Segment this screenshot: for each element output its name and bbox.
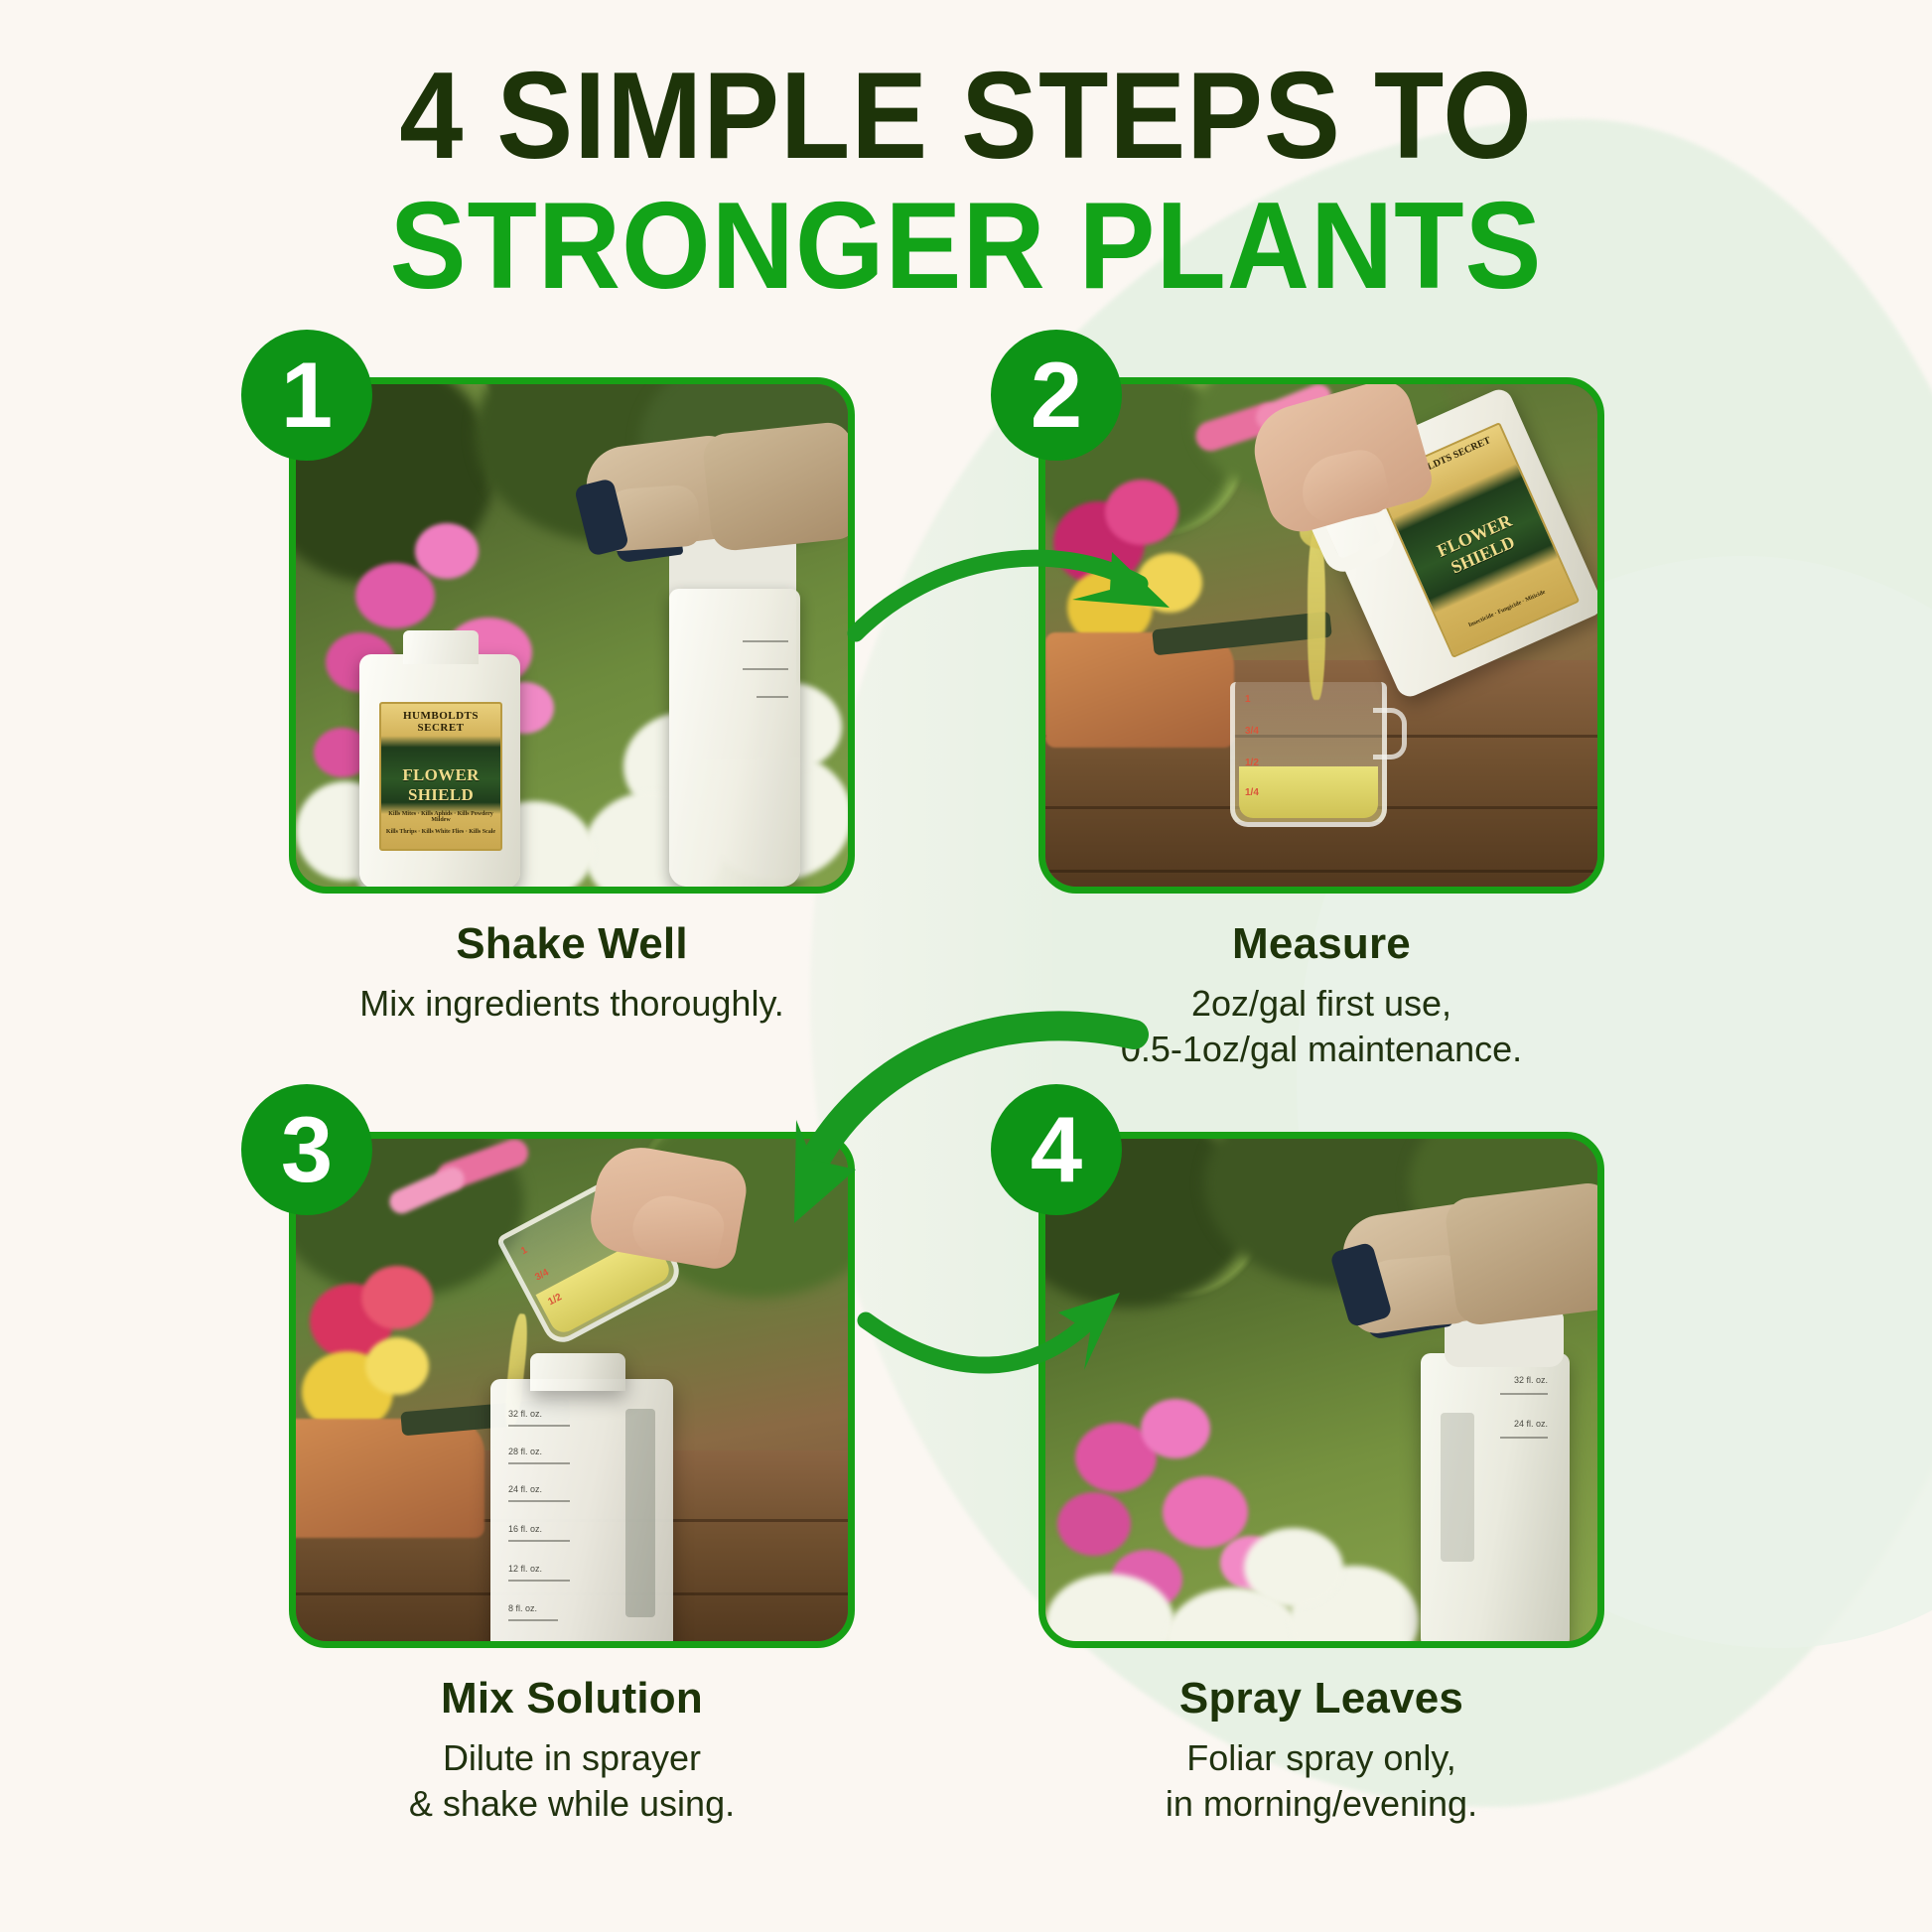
infographic-canvas: 4 SIMPLE STEPS TO STRONGER PLANTS 1 (0, 0, 1932, 1932)
step-card-2: 2 (993, 377, 1688, 1072)
sprayer-bottle-3: 32 fl. oz. 28 fl. oz. 24 fl. oz. 16 fl. … (490, 1379, 673, 1648)
scene-mix-solution: 1 3/4 1/2 32 fl. oz. (296, 1139, 848, 1641)
jug-brand-text-1: HUMBOLDTS SECRET (381, 710, 500, 734)
step-caption-2: Measure 2oz/gal first use, 0.5-1oz/gal m… (1038, 894, 1604, 1072)
step-photo-2: 1 3/4 1/2 1/4 HUMBOLDTS SECRET (1038, 377, 1604, 894)
step-caption-4: Spray Leaves Foliar spray only, in morni… (1038, 1648, 1604, 1827)
page-title: 4 SIMPLE STEPS TO STRONGER PLANTS (0, 52, 1932, 313)
step-body-2-line-1: 2oz/gal first use, (1038, 981, 1604, 1027)
step-badge-4: 4 (991, 1084, 1122, 1215)
title-line-2: STRONGER PLANTS (68, 182, 1864, 312)
step-caption-3: Mix Solution Dilute in sprayer & shake w… (289, 1648, 855, 1827)
step-title-4: Spray Leaves (1038, 1674, 1604, 1724)
measuring-cup: 1 3/4 1/2 1/4 (1230, 682, 1387, 827)
sprayer-bottle-4: 32 fl. oz. 24 fl. oz. (1421, 1353, 1570, 1648)
scene-measure: 1 3/4 1/2 1/4 HUMBOLDTS SECRET (1045, 384, 1597, 887)
step-body-1-line-1: Mix ingredients thoroughly. (289, 981, 855, 1027)
step-title-1: Shake Well (289, 919, 855, 969)
jug-product-text-1: FLOWER SHIELD (381, 765, 500, 805)
jug-product-text-2: FLOWER SHIELD (1409, 499, 1549, 593)
scene-shake-well: HUMBOLDTS SECRET FLOWER SHIELD Kills Mit… (296, 384, 848, 887)
scene-spray-leaves: 32 fl. oz. 24 fl. oz. (1045, 1139, 1597, 1641)
steps-grid: 1 (0, 377, 1932, 1926)
step-photo-4: 32 fl. oz. 24 fl. oz. (1038, 1132, 1604, 1648)
title-line-1: 4 SIMPLE STEPS TO (68, 52, 1864, 182)
step-photo-1: HUMBOLDTS SECRET FLOWER SHIELD Kills Mit… (289, 377, 855, 894)
step-body-3-line-2: & shake while using. (289, 1781, 855, 1827)
step-card-1: 1 (243, 377, 938, 1027)
step-photo-3: 1 3/4 1/2 32 fl. oz. (289, 1132, 855, 1648)
step-badge-1: 1 (241, 330, 372, 461)
step-card-4: 4 (993, 1132, 1688, 1827)
step-card-3: 3 (243, 1132, 938, 1827)
step-body-3-line-1: Dilute in sprayer (289, 1735, 855, 1781)
pour-stream (1308, 531, 1325, 700)
step-badge-3: 3 (241, 1084, 372, 1215)
step-caption-1: Shake Well Mix ingredients thoroughly. (289, 894, 855, 1027)
step-title-3: Mix Solution (289, 1674, 855, 1724)
step-title-2: Measure (1038, 919, 1604, 969)
step-body-4-line-2: in morning/evening. (1038, 1781, 1604, 1827)
step-body-4-line-1: Foliar spray only, (1038, 1735, 1604, 1781)
step-badge-2: 2 (991, 330, 1122, 461)
step-body-2-line-2: 0.5-1oz/gal maintenance. (1038, 1027, 1604, 1072)
